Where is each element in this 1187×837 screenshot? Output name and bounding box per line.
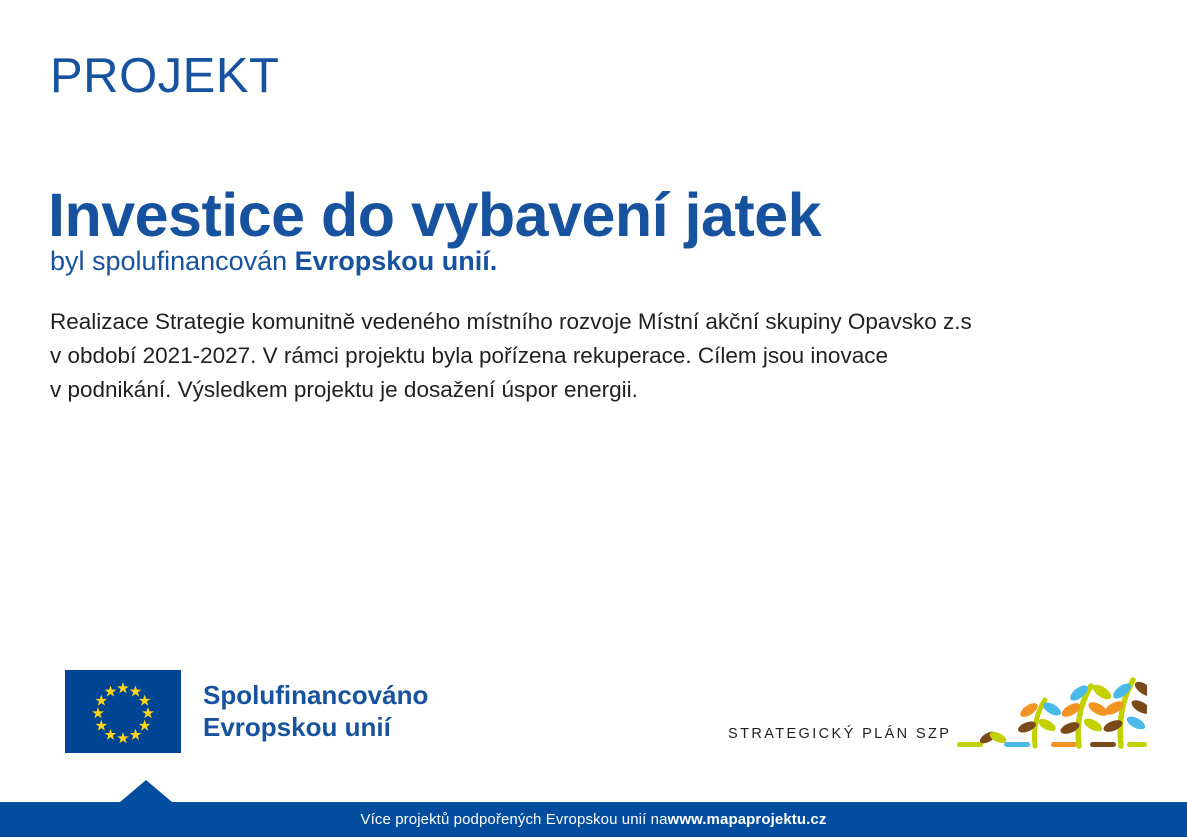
eu-caption-line-1: Spolufinancováno — [203, 680, 428, 712]
eu-emblem: Spolufinancováno Evropskou unií — [65, 670, 428, 753]
page-title: Investice do vybavení jatek — [48, 183, 821, 247]
body-line-3: v podnikání. Výsledkem projektu je dosaž… — [50, 373, 1140, 407]
body-paragraph: Realizace Strategie komunitně vedeného m… — [50, 305, 1140, 408]
sprout-icon — [957, 676, 1147, 758]
eu-emblem-caption: Spolufinancováno Evropskou unií — [203, 680, 428, 743]
footer-text-prefix: Více projektů podpořených Evropskou unií… — [361, 811, 668, 828]
poster-canvas: PROJEKT Investice do vybavení jatek byl … — [0, 0, 1187, 837]
body-line-2: v období 2021-2027. V rámci projektu byl… — [50, 339, 1140, 373]
subtitle-emphasis: Evropskou unií. — [295, 246, 498, 276]
page-eyebrow: PROJEKT — [50, 52, 279, 101]
body-line-1: Realizace Strategie komunitně vedeného m… — [50, 305, 1140, 339]
szp-wordmark: STRATEGICKÝ PLÁN SZP — [728, 726, 951, 758]
footer-text: Více projektů podpořených Evropskou unií… — [0, 802, 1187, 837]
footer-url[interactable]: www.mapaprojektu.cz — [668, 811, 827, 828]
footer-notch — [120, 780, 172, 802]
subtitle-prefix: byl spolufinancován — [50, 246, 295, 276]
szp-logo: STRATEGICKÝ PLÁN SZP — [728, 676, 1108, 758]
eu-flag-icon — [65, 670, 181, 753]
page-subtitle: byl spolufinancován Evropskou unií. — [50, 245, 497, 277]
eu-caption-line-2: Evropskou unií — [203, 712, 428, 744]
